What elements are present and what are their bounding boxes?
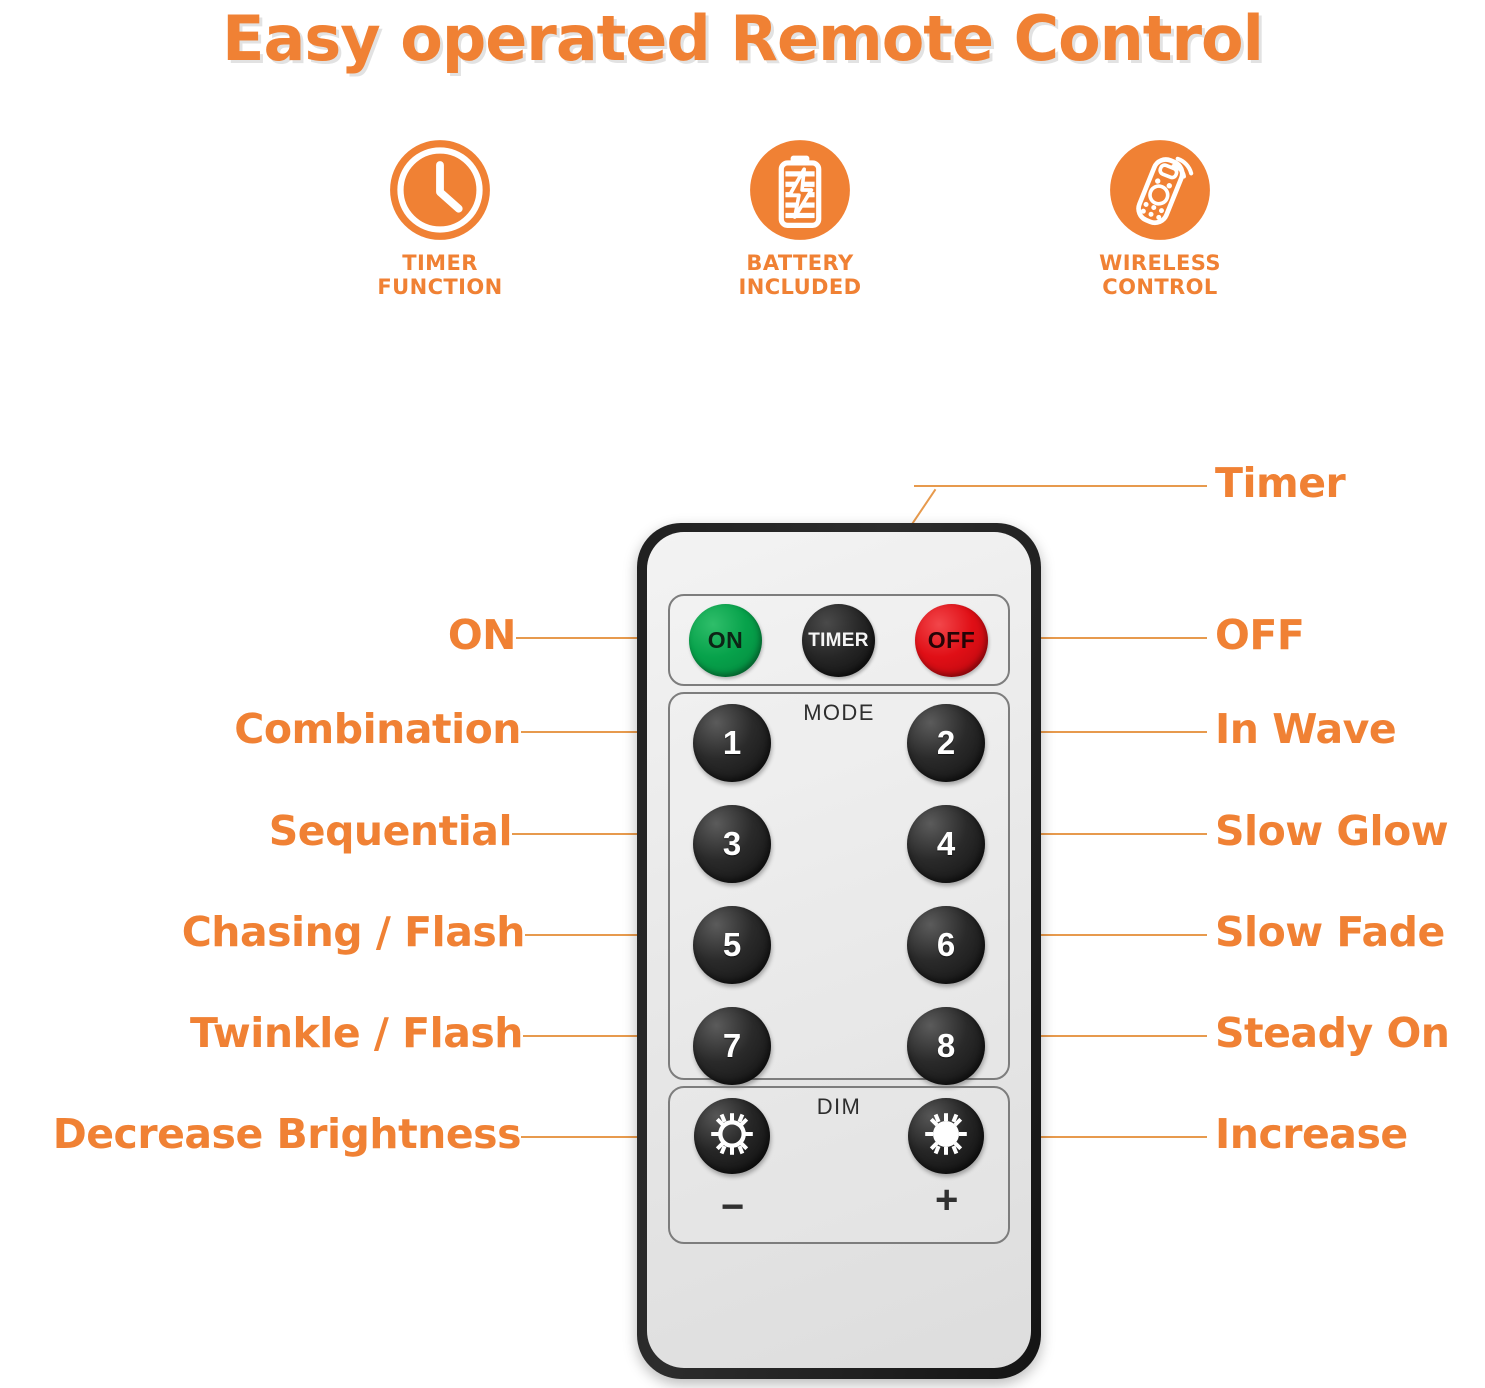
sun-filled-icon <box>920 1108 972 1165</box>
remote-signal-icon <box>1108 138 1212 242</box>
callout-off: OFF <box>1215 615 1304 656</box>
callout-mode1: Combination <box>16 709 521 750</box>
decrease-brightness-button[interactable] <box>694 1098 770 1174</box>
battery-icon <box>748 138 852 242</box>
clock-icon <box>388 138 492 242</box>
remote-faceplate: ON TIMER OFF MODE 1 2 3 4 5 6 7 8 DIM <box>647 532 1031 1368</box>
feature-label: TIMER FUNCTION <box>377 252 502 299</box>
callout-mode3: Sequential <box>16 811 512 852</box>
sun-outline-icon <box>706 1108 758 1165</box>
feature-badge-row: TIMER FUNCTION BATTERY INCLUDED <box>300 138 1300 318</box>
callout-mode6: Slow Fade <box>1215 912 1445 953</box>
increase-brightness-button[interactable] <box>908 1098 984 1174</box>
callout-mode5: Chasing / Flash <box>16 912 525 953</box>
on-button[interactable]: ON <box>689 604 762 677</box>
mode-button-2[interactable]: 2 <box>907 704 985 782</box>
minus-sign-label: − <box>721 1187 744 1227</box>
mode-button-7[interactable]: 7 <box>693 1007 771 1085</box>
callout-timer: Timer <box>1215 463 1345 504</box>
off-button[interactable]: OFF <box>915 604 988 677</box>
feature-battery-included: BATTERY INCLUDED <box>660 138 940 299</box>
remote-control-device: ON TIMER OFF MODE 1 2 3 4 5 6 7 8 DIM <box>637 523 1041 1379</box>
feature-timer-function: TIMER FUNCTION <box>300 138 580 299</box>
plus-sign-label: + <box>935 1180 958 1220</box>
infographic-page: Easy operated Remote Control TIMER FUNCT… <box>0 0 1485 1388</box>
feature-label: WIRELESS CONTROL <box>1099 252 1221 299</box>
leader-line-timer <box>914 485 1207 487</box>
mode-button-5[interactable]: 5 <box>693 906 771 984</box>
mode-button-4[interactable]: 4 <box>907 805 985 883</box>
feature-label: BATTERY INCLUDED <box>739 252 862 299</box>
callout-dim-down: Decrease Brightness <box>10 1114 521 1155</box>
mode-button-3[interactable]: 3 <box>693 805 771 883</box>
timer-button[interactable]: TIMER <box>802 604 875 677</box>
callout-dim-up: Increase <box>1215 1114 1408 1155</box>
mode-button-8[interactable]: 8 <box>907 1007 985 1085</box>
page-title: Easy operated Remote Control <box>0 2 1485 75</box>
feature-wireless-control: WIRELESS CONTROL <box>1020 138 1300 299</box>
callout-mode4: Slow Glow <box>1215 811 1448 852</box>
callout-mode7: Twinkle / Flash <box>16 1013 523 1054</box>
callout-mode2: In Wave <box>1215 709 1396 750</box>
callout-on: ON <box>16 615 516 656</box>
callout-mode8: Steady On <box>1215 1013 1450 1054</box>
mode-button-6[interactable]: 6 <box>907 906 985 984</box>
mode-button-1[interactable]: 1 <box>693 704 771 782</box>
